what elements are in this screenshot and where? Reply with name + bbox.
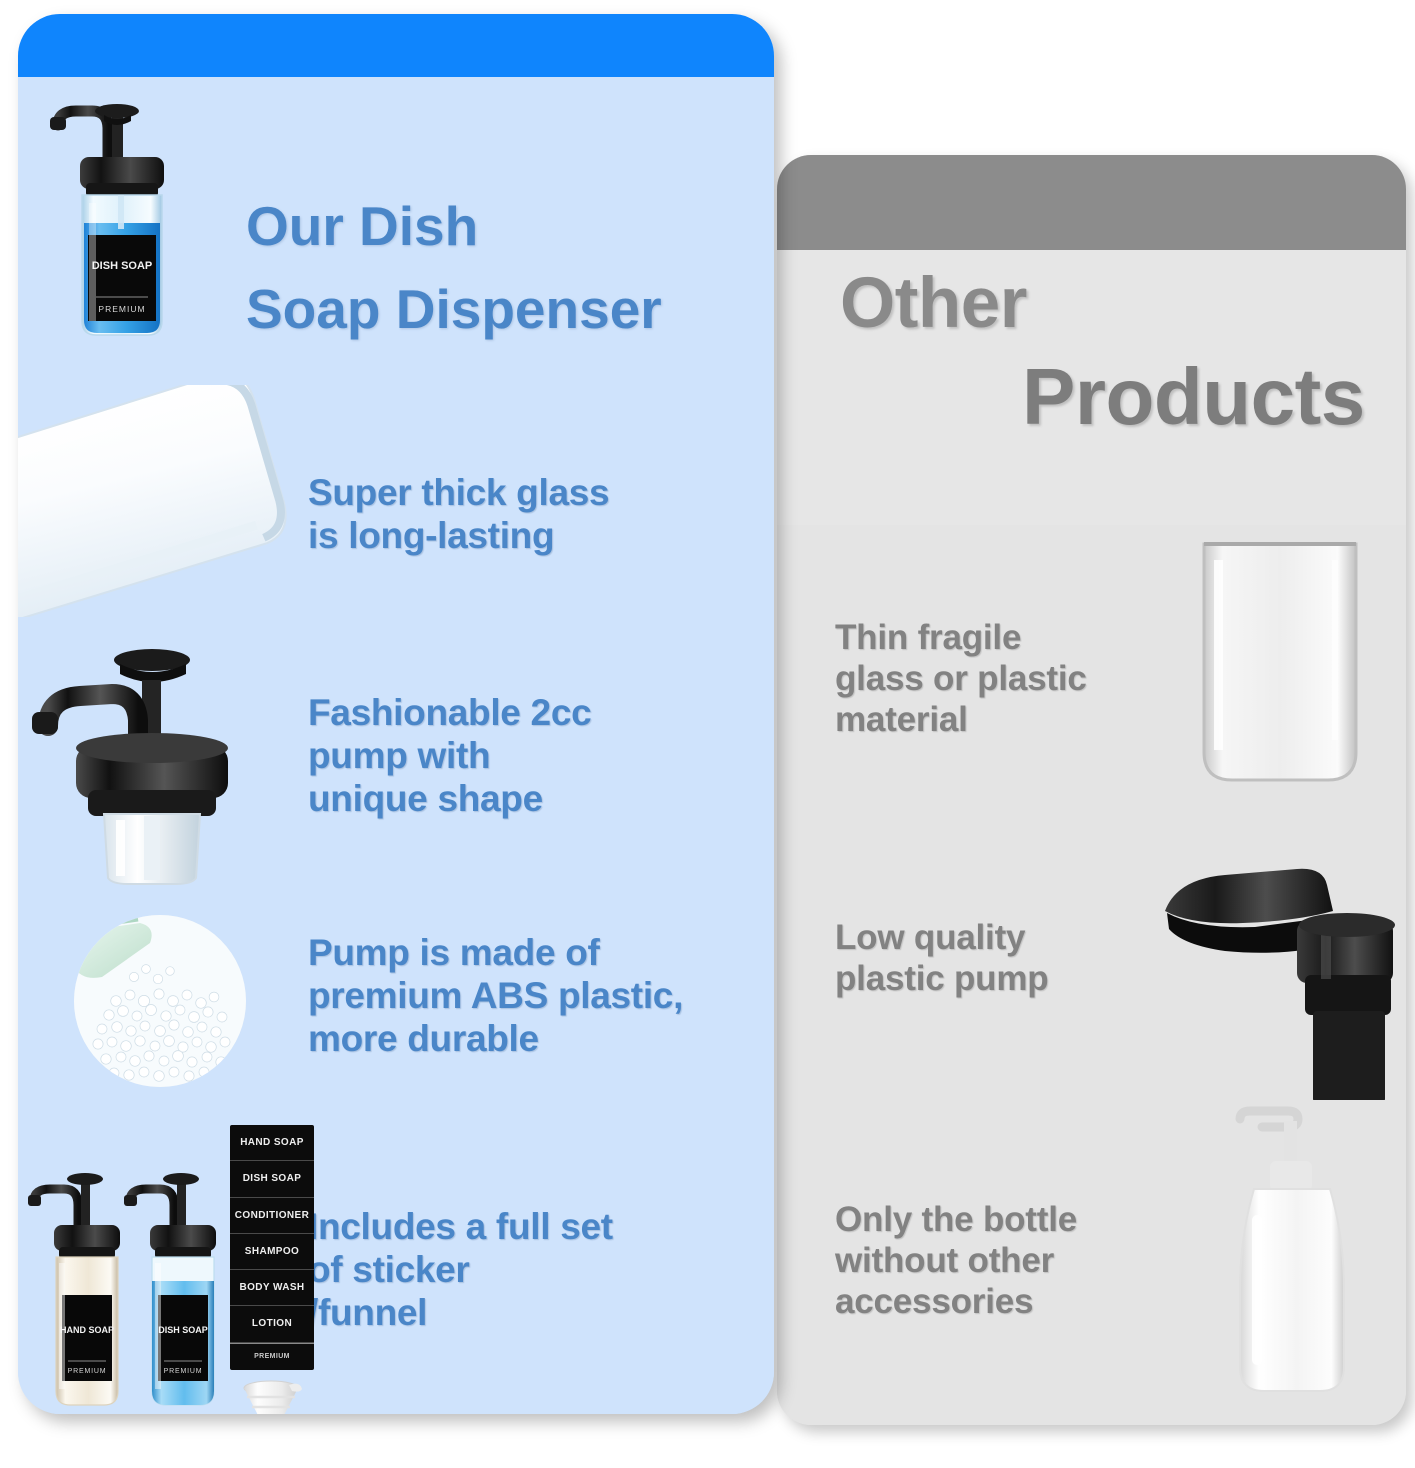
- sticker-label: HAND SOAP: [230, 1125, 314, 1161]
- feature-text-abs-plastic: Pump is made of premium ABS plastic, mor…: [308, 932, 683, 1061]
- pump-closeup-image: [30, 640, 285, 885]
- thick-glass-jar-image: [18, 385, 294, 617]
- svg-text:PREMIUM: PREMIUM: [164, 1368, 203, 1375]
- feature-line1: Includes a full set: [308, 1206, 613, 1249]
- feature-row-pump-2cc: Fashionable 2cc pump with unique shape: [18, 634, 774, 892]
- svg-text:DISH SOAP: DISH SOAP: [158, 1325, 208, 1335]
- sticker-label: SHAMPOO: [230, 1234, 314, 1270]
- hero-dish-soap-dispenser-image: DISH SOAP PREMIUM: [46, 91, 216, 343]
- feature-text-thick-glass: Super thick glass is long-lasting: [308, 472, 609, 558]
- drawback-row-low-pump: Low quality plastic pump: [777, 830, 1406, 1095]
- feature-line3: more durable: [308, 1018, 683, 1061]
- feature-line2: pump with: [308, 735, 591, 778]
- drawback-line2: without other: [835, 1241, 1077, 1282]
- drawback-row-bottle-only: Only the bottle without other accessorie…: [777, 1100, 1406, 1425]
- sticker-label: CONDITIONER: [230, 1198, 314, 1234]
- drawback-line1: Thin fragile: [835, 618, 1087, 659]
- sticker-label: LOTION: [230, 1306, 314, 1342]
- feature-line1: Fashionable 2cc: [308, 692, 591, 735]
- feature-line1: Pump is made of: [308, 932, 683, 975]
- feature-text-sticker-set: Includes a full set of sticker /funnel: [308, 1206, 613, 1335]
- our-product-title-line1: Our Dish: [246, 199, 478, 254]
- funnel-image: [242, 1379, 304, 1414]
- drawback-text-bottle-only: Only the bottle without other accessorie…: [835, 1200, 1077, 1323]
- other-products-card: Other Products Thin fragile glass or pla…: [777, 155, 1406, 1425]
- feature-line2: is long-lasting: [308, 515, 609, 558]
- svg-text:DISH SOAP: DISH SOAP: [92, 260, 153, 272]
- svg-text:PREMIUM: PREMIUM: [98, 304, 145, 314]
- drawback-line3: material: [835, 700, 1087, 741]
- sticker-label: BODY WASH: [230, 1270, 314, 1306]
- drawback-text-thin-glass: Thin fragile glass or plastic material: [835, 618, 1087, 741]
- sticker-label: DISH SOAP: [230, 1161, 314, 1197]
- low-quality-pump-image: [1147, 825, 1406, 1105]
- feature-line1: Super thick glass: [308, 472, 609, 515]
- feature-line2: premium ABS plastic,: [308, 975, 683, 1018]
- drawback-line3: accessories: [835, 1282, 1077, 1323]
- plain-white-bottle-image: [1192, 1105, 1392, 1405]
- feature-line3: /funnel: [308, 1292, 613, 1335]
- feature-row-sticker-set: Includes a full set of sticker /funnel: [18, 1101, 774, 1414]
- drawback-line1: Low quality: [835, 918, 1048, 959]
- drawback-line1: Only the bottle: [835, 1200, 1077, 1241]
- our-product-card: Our Dish Soap Dispenser: [18, 14, 774, 1414]
- feature-row-thick-glass: Super thick glass is long-lasting: [18, 369, 774, 627]
- svg-text:PREMIUM: PREMIUM: [68, 1368, 107, 1375]
- two-dispensers-image: HAND SOAP PREMIUM DISH SOAP: [26, 1163, 226, 1414]
- feature-text-pump-2cc: Fashionable 2cc pump with unique shape: [308, 692, 591, 821]
- sticker-label: PREMIUM: [230, 1343, 314, 1370]
- other-products-title-line1: Other: [840, 268, 1027, 339]
- feature-row-abs-plastic: Pump is made of premium ABS plastic, mor…: [18, 899, 774, 1094]
- feature-line3: unique shape: [308, 778, 591, 821]
- our-product-title-line2: Soap Dispenser: [246, 282, 662, 337]
- other-products-title-line2: Products: [1022, 357, 1365, 437]
- our-product-header-bar: [18, 14, 774, 77]
- drawback-line2: plastic pump: [835, 959, 1048, 1000]
- other-products-header-bar: [777, 155, 1406, 250]
- comparison-infographic: Other Products Thin fragile glass or pla…: [0, 0, 1415, 1468]
- feature-line2: of sticker: [308, 1249, 613, 1292]
- drawback-row-thin-glass: Thin fragile glass or plastic material: [777, 530, 1406, 825]
- other-products-title-block: Other Products: [777, 250, 1406, 525]
- abs-pellets-image: [74, 915, 246, 1087]
- svg-text:HAND SOAP: HAND SOAP: [60, 1325, 114, 1335]
- our-product-title-row: Our Dish Soap Dispenser: [18, 77, 774, 362]
- thin-glass-jar-image: [1172, 540, 1387, 820]
- drawback-text-low-pump: Low quality plastic pump: [835, 918, 1048, 1000]
- drawback-line2: glass or plastic: [835, 659, 1087, 700]
- sticker-label-sheet-image: HAND SOAP DISH SOAP CONDITIONER SHAMPOO …: [230, 1125, 314, 1370]
